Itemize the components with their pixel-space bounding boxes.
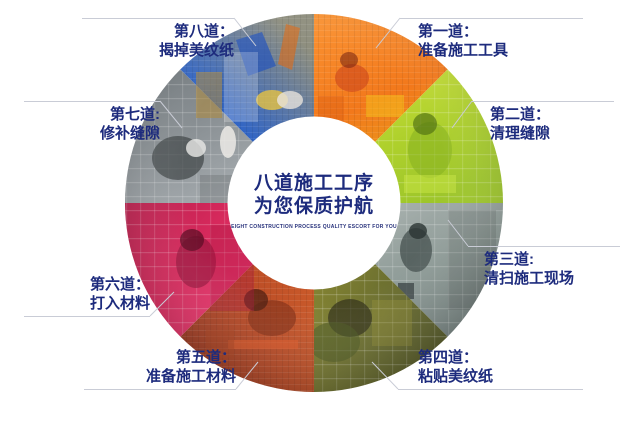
connector-rule-4 bbox=[398, 389, 583, 390]
connector-rule-7 bbox=[24, 101, 160, 102]
connector-rule-2 bbox=[472, 101, 614, 102]
label-step-8[interactable]: 第八道： 揭掉美纹纸 bbox=[82, 22, 234, 60]
label-step-8-title: 第八道： bbox=[82, 22, 234, 41]
connector-rule-3 bbox=[468, 246, 620, 247]
label-step-6-title: 第六道： bbox=[24, 275, 150, 294]
label-step-2-desc: 清理缝隙 bbox=[490, 124, 550, 143]
label-step-5-title: 第五道： bbox=[84, 348, 236, 367]
label-step-8-desc: 揭掉美纹纸 bbox=[82, 41, 234, 60]
center-slogan-line2: 为您保质护航 bbox=[224, 195, 404, 218]
label-step-3-desc: 清扫施工现场 bbox=[484, 269, 574, 288]
center-slogan: 八道施工工序 为您保质护航 EIGHT CONSTRUCTION PROCESS… bbox=[224, 172, 404, 232]
connector-rule-1 bbox=[400, 18, 583, 19]
connector-rule-6 bbox=[24, 316, 150, 317]
label-step-4[interactable]: 第四道： 粘贴美纹纸 bbox=[418, 348, 493, 386]
label-step-7-desc: 修补缝隙 bbox=[24, 124, 160, 143]
label-step-3-title: 第三道: bbox=[484, 250, 574, 269]
connector-rule-5 bbox=[84, 389, 236, 390]
label-step-2[interactable]: 第二道： 清理缝隙 bbox=[490, 105, 550, 143]
label-step-7-title: 第七道: bbox=[24, 105, 160, 124]
label-step-1[interactable]: 第一道： 准备施工工具 bbox=[418, 22, 508, 60]
label-step-1-title: 第一道： bbox=[418, 22, 508, 41]
label-step-4-desc: 粘贴美纹纸 bbox=[418, 367, 493, 386]
label-step-6[interactable]: 第六道： 打入材料 bbox=[24, 275, 150, 313]
label-step-5-desc: 准备施工材料 bbox=[84, 367, 236, 386]
label-step-1-desc: 准备施工工具 bbox=[418, 41, 508, 60]
connector-rule-8 bbox=[82, 18, 234, 19]
label-step-5[interactable]: 第五道： 准备施工材料 bbox=[84, 348, 236, 386]
center-slogan-english: EIGHT CONSTRUCTION PROCESS QUALITY ESCOR… bbox=[228, 223, 401, 232]
label-step-7[interactable]: 第七道: 修补缝隙 bbox=[24, 105, 160, 143]
label-step-6-desc: 打入材料 bbox=[24, 294, 150, 313]
infographic-canvas: 第一道： 准备施工工具 第二道： 清理缝隙 第三道: 清扫施工现场 第四道： 粘… bbox=[0, 0, 628, 427]
label-step-3[interactable]: 第三道: 清扫施工现场 bbox=[484, 250, 574, 288]
label-step-2-title: 第二道： bbox=[490, 105, 550, 124]
center-slogan-line1: 八道施工工序 bbox=[224, 172, 404, 195]
label-step-4-title: 第四道： bbox=[418, 348, 493, 367]
